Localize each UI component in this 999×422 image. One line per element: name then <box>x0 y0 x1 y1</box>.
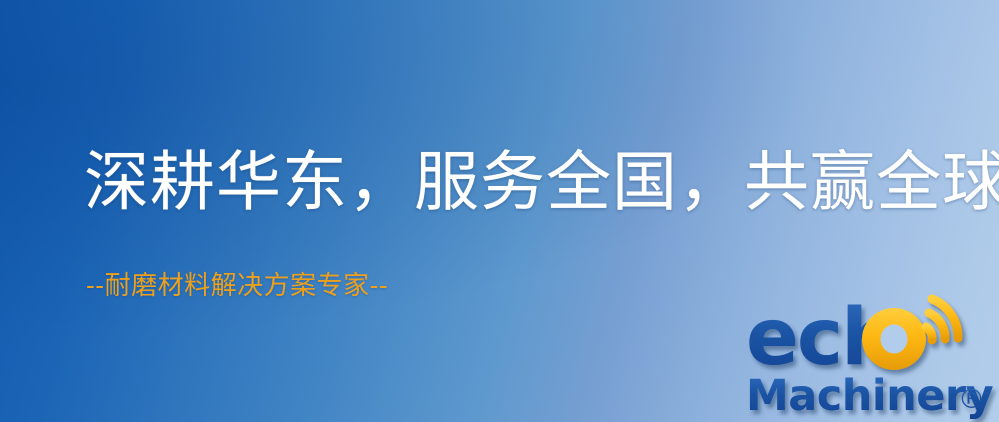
logo-signal-arcs-icon <box>926 299 958 340</box>
headline-text: 深耕华东，服务全国，共赢全球 <box>84 148 944 218</box>
logo-registered-mark-icon: ® <box>958 384 985 415</box>
hero-banner: 深耕华东，服务全国，共赢全球 --耐磨材料解决方案专家-- ech <box>0 0 999 422</box>
echo-machinery-logo[interactable]: ech Machinery ® <box>740 292 999 422</box>
subtitle-text: --耐磨材料解决方案专家-- <box>86 265 388 302</box>
logo-machinery-text: Machinery <box>746 371 994 421</box>
logo-o-ring-gold <box>862 308 926 370</box>
